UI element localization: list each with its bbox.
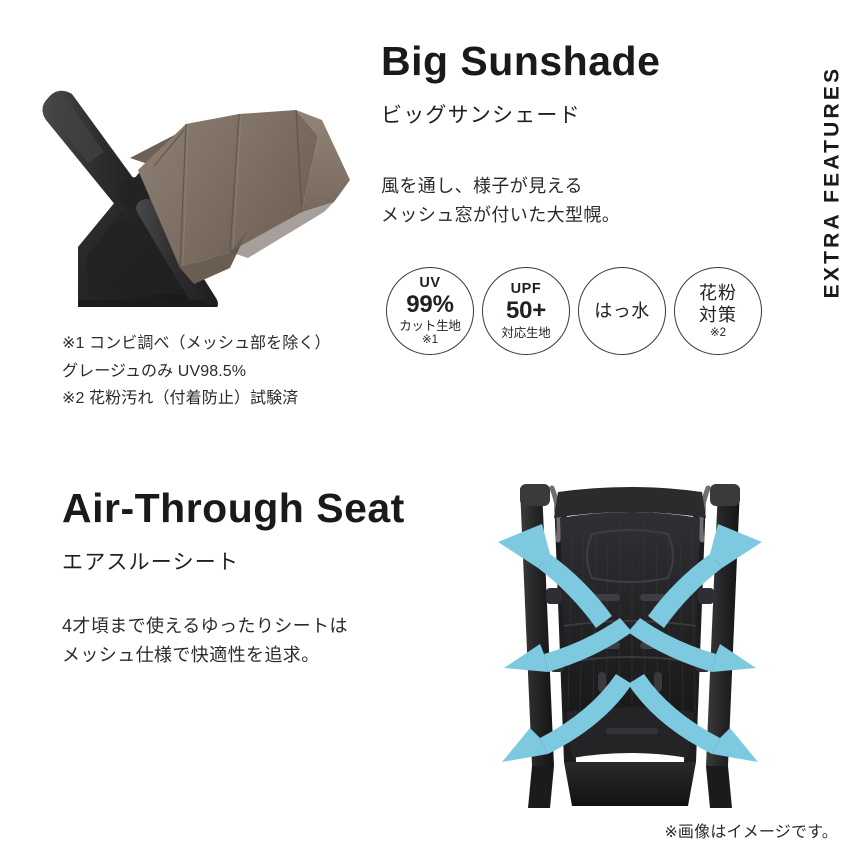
big-sunshade-heading-block: Big Sunshade ビッグサンシェード — [381, 40, 781, 129]
seat-base-tab — [606, 728, 658, 734]
leg-left — [528, 766, 554, 808]
airflow-arrow-mid-right-head — [712, 644, 756, 672]
badge-upf-top: UPF — [511, 281, 542, 298]
air-through-seat-description-block: 4才頃まで使えるゆったりシートは メッシュ仕様で快適性を追求。 — [62, 612, 462, 670]
extra-features-label-text: EXTRA FEATURES — [820, 66, 844, 299]
big-sunshade-photo — [34, 62, 364, 307]
badge-pollen-line1: 花粉 — [699, 282, 737, 305]
big-sunshade-description-block: 風を通し、様子が見える メッシュ窓が付いた大型幌。 — [381, 172, 771, 230]
air-through-seat-title-en: Air-Through Seat — [62, 487, 482, 530]
airflow-arrow-mid-left-head — [504, 644, 548, 672]
big-sunshade-title-en: Big Sunshade — [381, 40, 781, 83]
leg-right — [706, 766, 732, 808]
big-sunshade-description: 風を通し、様子が見える メッシュ窓が付いた大型幌。 — [381, 172, 771, 230]
air-through-seat-description: 4才頃まで使えるゆったりシートは メッシュ仕様で快適性を追求。 — [62, 612, 462, 670]
badge-upf-50: UPF 50+ 対応生地 — [482, 267, 570, 355]
side-adjuster-left — [546, 588, 562, 604]
badge-uv-top: UV — [419, 275, 440, 292]
frame-base-shadow — [78, 300, 210, 307]
badge-pollen-measures: 花粉 対策 ※2 — [674, 267, 762, 355]
badge-upf-sub: 対応生地 — [501, 326, 550, 341]
badge-upf-main: 50+ — [506, 297, 546, 325]
badge-uv-sub: カット生地 — [399, 319, 461, 334]
hinge-right — [710, 484, 740, 506]
feature-badge-row: UV 99% カット生地 ※1 UPF 50+ 対応生地 はっ水 花粉 対策 ※… — [386, 267, 762, 355]
badge-uv-99: UV 99% カット生地 ※1 — [386, 267, 474, 355]
image-disclaimer: ※画像はイメージです。 — [664, 818, 838, 842]
badge-water-repellent: はっ水 — [578, 267, 666, 355]
extra-features-side-label: EXTRA FEATURES — [810, 22, 854, 342]
marketing-page: EXTRA FEATURES — [0, 0, 860, 860]
big-sunshade-title-ja: ビッグサンシェード — [381, 99, 781, 129]
badge-pollen-line2: 対策 — [699, 304, 737, 327]
air-through-seat-photo — [480, 466, 780, 811]
hinge-left — [520, 484, 550, 506]
badge-uv-note: ※1 — [422, 334, 438, 347]
badge-water-repellent-label: はっ水 — [594, 301, 650, 322]
sunshade-footnotes: ※1 コンビ調べ（メッシュ部を除く） グレージュのみ UV98.5% ※2 花粉… — [62, 330, 331, 413]
side-adjuster-right — [698, 588, 714, 604]
footrest — [564, 762, 696, 806]
badge-uv-main: 99% — [406, 291, 453, 319]
air-through-seat-title-ja: エアスルーシート — [62, 546, 482, 576]
air-through-seat-heading-block: Air-Through Seat エアスルーシート — [62, 487, 482, 576]
badge-pollen-note: ※2 — [710, 327, 726, 340]
